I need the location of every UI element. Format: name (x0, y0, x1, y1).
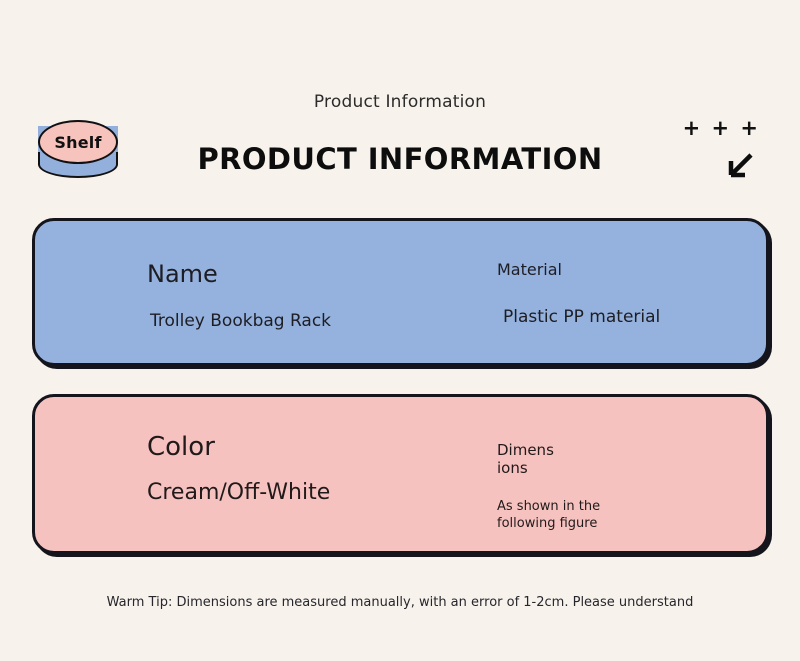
page-subtitle: Product Information (0, 92, 800, 112)
field-label: Color (147, 433, 330, 462)
page-title: PRODUCT INFORMATION (0, 142, 800, 176)
product-card-secondary: Color Cream/Off-White Dimensions As show… (32, 394, 769, 554)
field-label: Name (147, 261, 331, 287)
arrow-down-left-icon (720, 150, 756, 186)
page-header: Shelf Product Information PRODUCT INFORM… (0, 0, 800, 210)
field-label: Dimensions (497, 441, 557, 477)
field-group-material: Material Plastic PP material (497, 261, 660, 327)
plus-decoration-icon: + + + (683, 118, 760, 139)
field-value: Cream/Off-White (147, 480, 330, 505)
field-group-color: Color Cream/Off-White (147, 433, 330, 505)
field-group-name: Name Trolley Bookbag Rack (147, 261, 331, 331)
field-value: Plastic PP material (503, 307, 660, 327)
field-group-dimensions: Dimensions As shown in the following fig… (497, 441, 563, 533)
field-value: Trolley Bookbag Rack (150, 311, 331, 331)
warm-tip-note: Warm Tip: Dimensions are measured manual… (0, 595, 800, 610)
field-label: Material (497, 261, 660, 279)
product-card-primary: Name Trolley Bookbag Rack Material Plast… (32, 218, 769, 366)
field-value: As shown in the following figure (497, 499, 607, 533)
